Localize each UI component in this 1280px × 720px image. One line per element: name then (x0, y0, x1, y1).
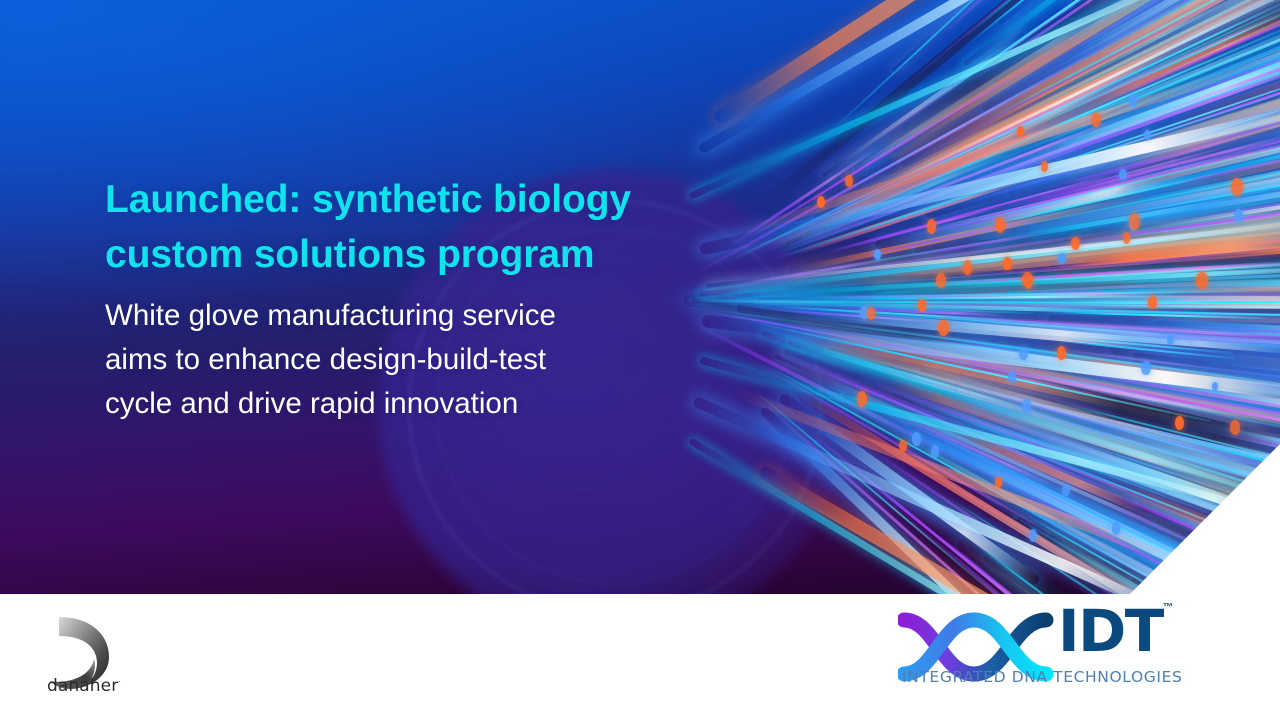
subhead-line-3: cycle and drive rapid innovation (105, 382, 685, 426)
footer-bar: danaher· IDT ™ (0, 594, 1280, 720)
idt-trademark: ™ (1163, 602, 1173, 613)
idt-tagline: INTEGRATED DNA TECHNOLOGIES (902, 668, 1177, 686)
page-title: Launched: synthetic biology custom solut… (105, 172, 685, 282)
hero-text-block: Launched: synthetic biology custom solut… (105, 172, 685, 426)
danaher-trademark: · (118, 677, 121, 686)
page-subtitle: White glove manufacturing service aims t… (105, 294, 685, 426)
subhead-line-1: White glove manufacturing service (105, 294, 685, 338)
headline-line-1: Launched: synthetic biology (105, 172, 685, 227)
promotional-banner: Launched: synthetic biology custom solut… (0, 0, 1280, 720)
headline-line-2: custom solutions program (105, 227, 685, 282)
danaher-wordmark: danaher· (29, 676, 139, 696)
danaher-wordmark-text: danaher (47, 676, 118, 696)
hero-image: Launched: synthetic biology custom solut… (0, 0, 1280, 594)
idt-wordmark: IDT (1058, 600, 1163, 662)
subhead-line-2: aims to enhance design-build-test (105, 338, 685, 382)
